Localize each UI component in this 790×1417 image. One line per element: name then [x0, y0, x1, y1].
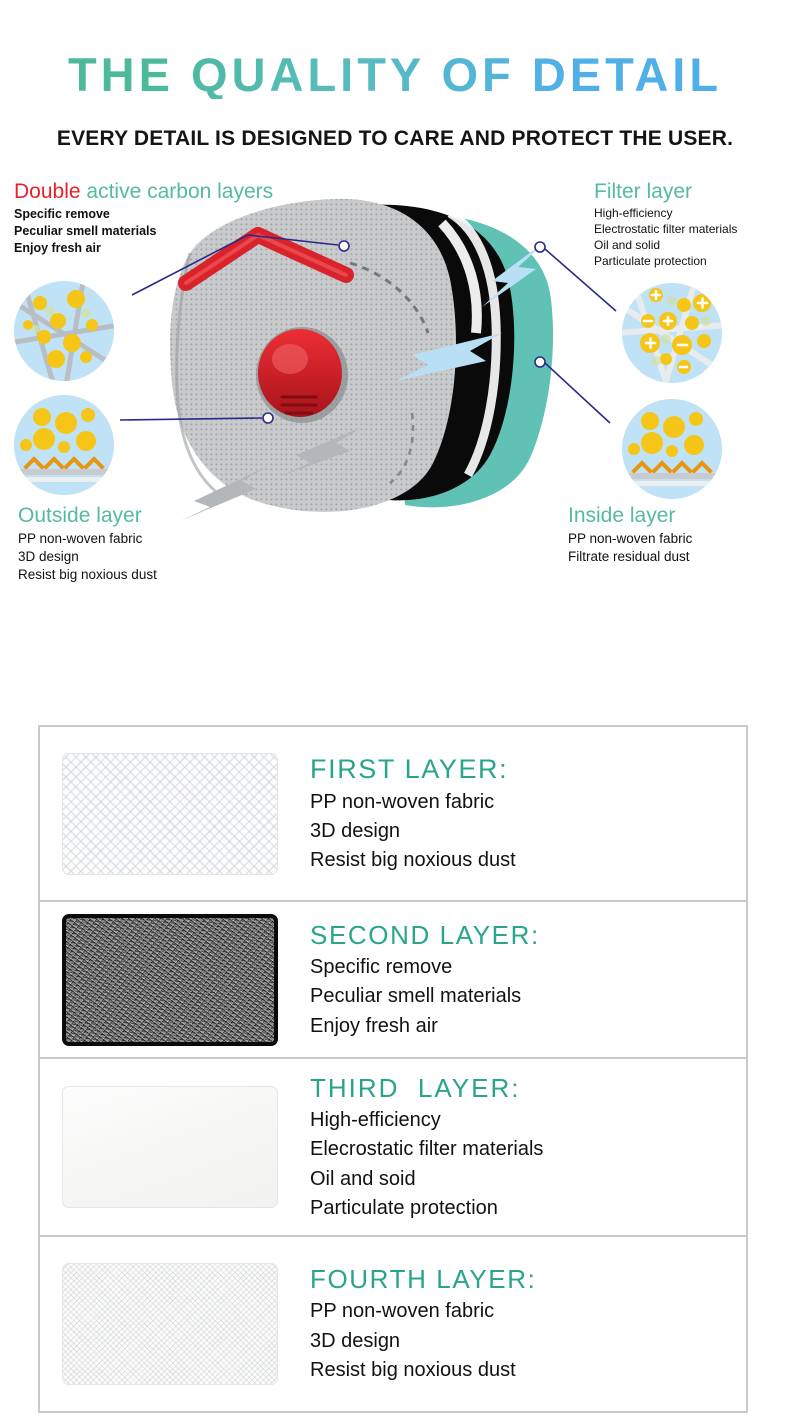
row-line: High-efficiency: [310, 1106, 543, 1135]
callout-line: Electrostatic filter materials: [594, 222, 737, 238]
row-title: SECOND LAYER:: [310, 918, 540, 953]
callout-line: PP non-woven fabric: [18, 530, 157, 548]
row-title: THIRD LAYER:: [310, 1071, 543, 1106]
row-line: Oil and soid: [310, 1165, 543, 1194]
table-row: SECOND LAYER: Specific remove Peculiar s…: [40, 902, 746, 1059]
row-line: Particulate protection: [310, 1194, 543, 1223]
callout-outside-layer: Outside layer PP non-woven fabric 3D des…: [18, 505, 157, 584]
table-row: FOURTH LAYER: PP non-woven fabric 3D des…: [40, 1237, 746, 1411]
callout-line: Resist big noxious dust: [18, 566, 157, 584]
row-line: 3D design: [310, 817, 516, 846]
callout-line: Enjoy fresh air: [14, 240, 273, 257]
callout-inside-layer: Inside layer PP non-woven fabric Filtrat…: [568, 505, 692, 566]
row-line: PP non-woven fabric: [310, 1297, 536, 1326]
fine-crosshatch-swatch: [62, 1263, 278, 1385]
page-header: THE QUALITY OF DETAIL EVERY DETAIL IS DE…: [0, 0, 790, 151]
row-title: FOURTH LAYER:: [310, 1262, 536, 1297]
row-line: Elecrostatic filter materials: [310, 1135, 543, 1164]
row-line: 3D design: [310, 1327, 536, 1356]
mask-layer-diagram: Double active carbon layers Specific rem…: [0, 173, 790, 603]
callout-title-highlight: Double: [14, 180, 81, 203]
callout-title-double-active-carbon: Double active carbon layers: [14, 181, 273, 203]
callout-double-active-carbon: Double active carbon layers Specific rem…: [14, 181, 273, 256]
row-line: Resist big noxious dust: [310, 1356, 536, 1385]
callout-line: Oil and solid: [594, 238, 737, 254]
callout-line: 3D design: [18, 548, 157, 566]
callout-title-rest: active carbon layers: [81, 180, 274, 203]
row-line: Resist big noxious dust: [310, 846, 516, 875]
table-row: FIRST LAYER: PP non-woven fabric 3D desi…: [40, 727, 746, 902]
callout-lines-outside-layer: PP non-woven fabric 3D design Resist big…: [18, 530, 157, 584]
particles-deflected-icon: [622, 399, 722, 499]
callout-title-inside-layer: Inside layer: [568, 505, 692, 527]
callout-lines-double-active-carbon: Specific remove Peculiar smell materials…: [14, 206, 273, 256]
row-text: FIRST LAYER: PP non-woven fabric 3D desi…: [278, 751, 516, 876]
callout-line: High-efficiency: [594, 206, 737, 222]
row-line: Specific remove: [310, 953, 540, 982]
callout-line: Peculiar smell materials: [14, 223, 273, 240]
row-line: PP non-woven fabric: [310, 788, 516, 817]
table-row: THIRD LAYER: High-efficiency Elecrostati…: [40, 1059, 746, 1237]
particles-deflected-icon: [14, 395, 114, 495]
callout-lines-filter-layer: High-efficiency Electrostatic filter mat…: [594, 206, 737, 270]
row-title: FIRST LAYER:: [310, 751, 516, 787]
fibers-with-particles-icon: [14, 281, 114, 381]
row-text: FOURTH LAYER: PP non-woven fabric 3D des…: [278, 1262, 536, 1385]
callout-line: Filtrate residual dust: [568, 548, 692, 566]
meltblown-white-swatch: [62, 1086, 278, 1208]
row-text: THIRD LAYER: High-efficiency Elecrostati…: [278, 1071, 543, 1224]
callout-line: PP non-woven fabric: [568, 530, 692, 548]
callout-title-filter-layer: Filter layer: [594, 181, 737, 203]
row-line: Peculiar smell materials: [310, 982, 540, 1011]
white-diamond-weave-swatch: [62, 753, 278, 875]
callout-filter-layer: Filter layer High-efficiency Electrostat…: [594, 181, 737, 270]
activated-carbon-swatch: [62, 914, 278, 1046]
callout-line: Particulate protection: [594, 254, 737, 270]
electrostatic-charged-particles-icon: [622, 283, 722, 383]
callout-line: Specific remove: [14, 206, 273, 223]
row-text: SECOND LAYER: Specific remove Peculiar s…: [278, 918, 540, 1041]
page-title: THE QUALITY OF DETAIL: [0, 50, 790, 99]
page-subtitle: EVERY DETAIL IS DESIGNED TO CARE AND PRO…: [0, 127, 790, 151]
row-line: Enjoy fresh air: [310, 1012, 540, 1041]
callout-lines-inside-layer: PP non-woven fabric Filtrate residual du…: [568, 530, 692, 566]
layer-table: FIRST LAYER: PP non-woven fabric 3D desi…: [38, 725, 748, 1413]
callout-title-outside-layer: Outside layer: [18, 505, 157, 527]
